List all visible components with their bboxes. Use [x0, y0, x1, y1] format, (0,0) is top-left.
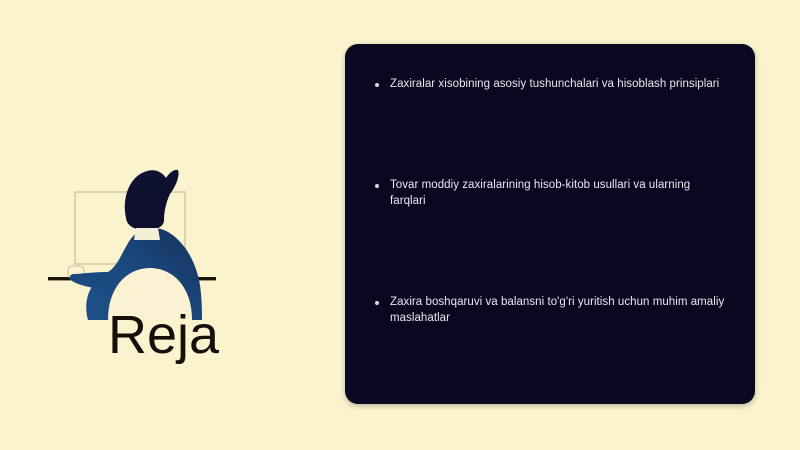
bullet-dot-icon [375, 301, 379, 305]
content-card: Zaxiralar xisobining asosiy tushunchalar… [345, 44, 755, 404]
bullet-dot-icon [375, 184, 379, 188]
bullet-dot-icon [375, 83, 379, 87]
person-arm [70, 272, 117, 290]
page-title: Reja [108, 306, 219, 364]
person-collar [134, 228, 160, 240]
person-at-desk-illustration [30, 160, 240, 320]
person-hair [125, 170, 179, 230]
list-item: Tovar moddiy zaxiralarining hisob-kitob … [375, 177, 725, 210]
list-item: Zaxira boshqaruvi va balansni to'g'ri yu… [375, 294, 725, 327]
presentation-slide: Reja Zaxiralar xisobining asosiy tushunc… [0, 0, 800, 450]
bullet-text: Tovar moddiy zaxiralarining hisob-kitob … [390, 177, 725, 210]
bullet-text: Zaxira boshqaruvi va balansni to'g'ri yu… [390, 294, 725, 327]
list-item: Zaxiralar xisobining asosiy tushunchalar… [375, 76, 725, 93]
bullet-text: Zaxiralar xisobining asosiy tushunchalar… [390, 76, 725, 93]
